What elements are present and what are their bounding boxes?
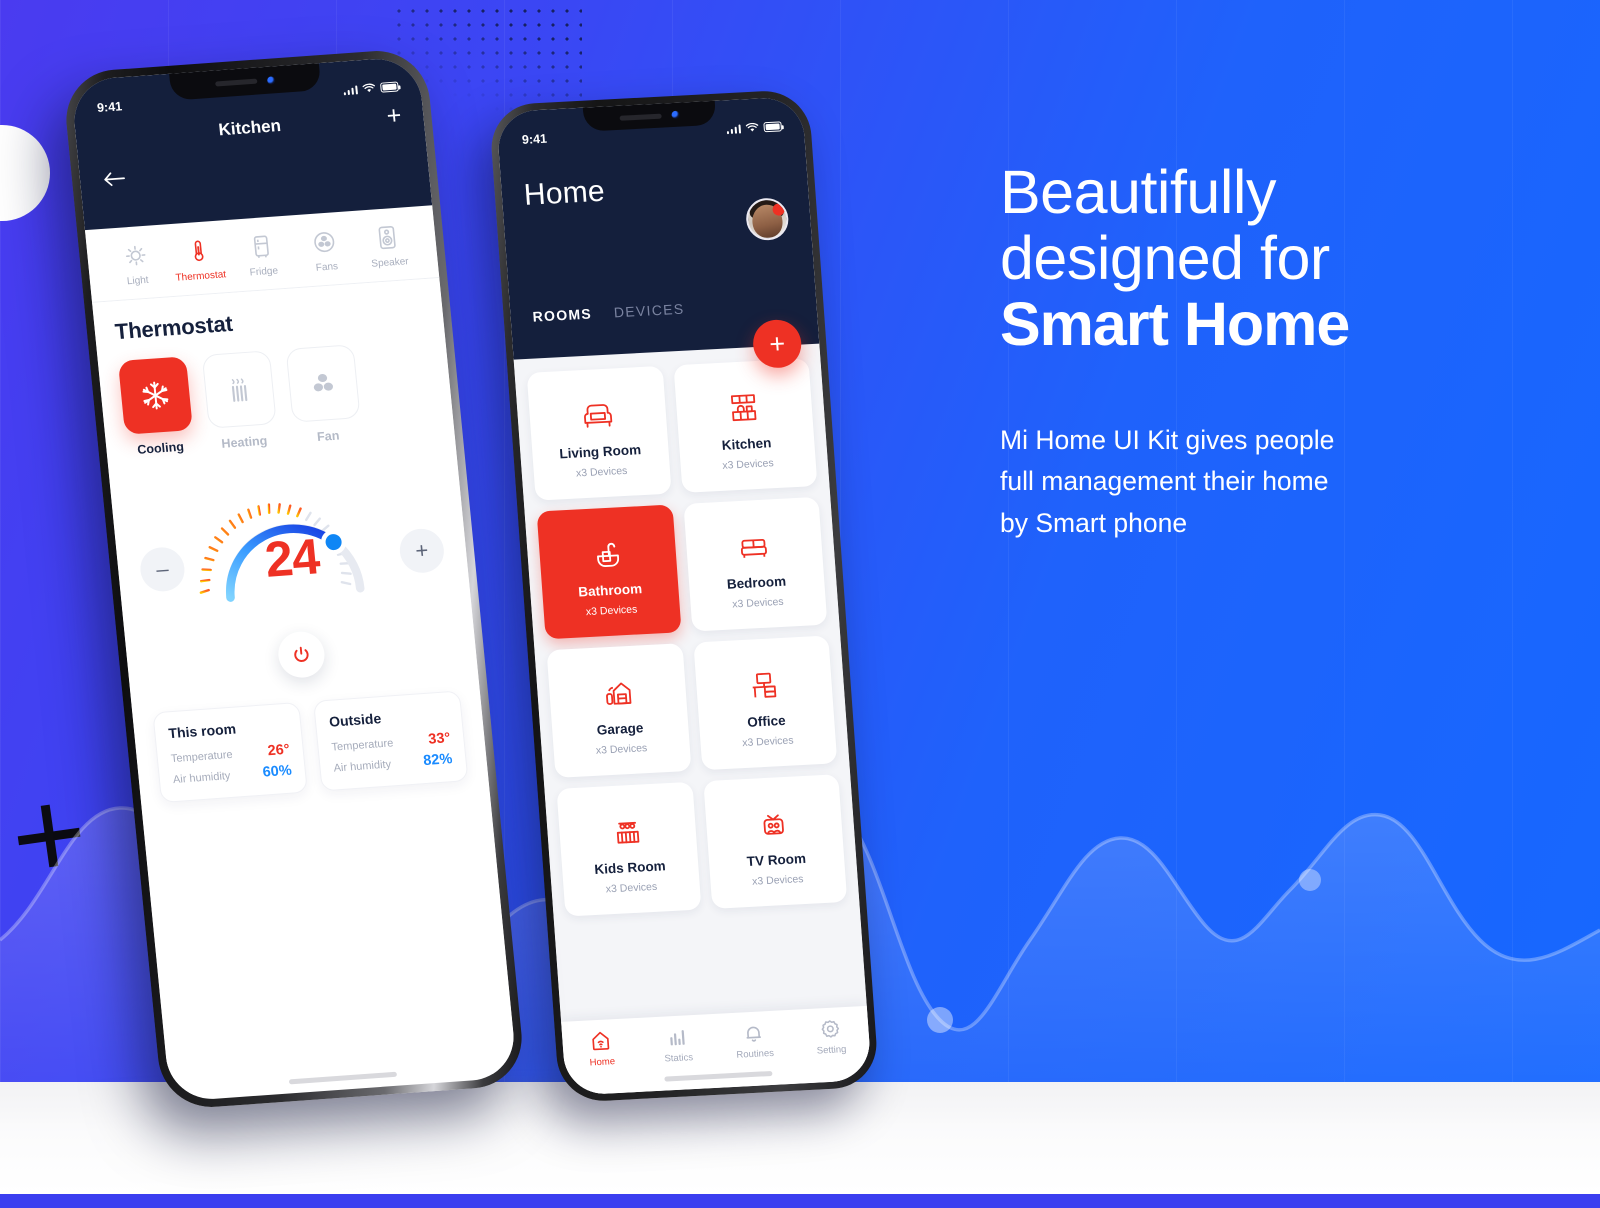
room-card-office[interactable]: Office x3 Devices (693, 635, 837, 770)
home-tabs: ROOMS DEVICES (532, 301, 685, 325)
wifi-icon (362, 83, 376, 94)
gear-icon (818, 1017, 842, 1040)
room-name: Kitchen (721, 435, 772, 453)
room-name: Kids Room (594, 858, 666, 877)
info-row-humidity: Air humidity 82% (333, 751, 453, 775)
info-key: Temperature (331, 737, 394, 753)
status-time: 9:41 (96, 99, 122, 115)
heater-icon (221, 371, 258, 407)
room-name: Bathroom (578, 581, 643, 599)
mode-icon-box (202, 350, 277, 429)
bed-icon (732, 523, 775, 569)
device-tab-label: Speaker (371, 256, 409, 270)
room-device-count: x3 Devices (742, 734, 794, 749)
info-key: Air humidity (333, 759, 392, 775)
subcopy-line-2: full management their home (1000, 461, 1520, 503)
device-tab-thermostat[interactable]: Thermostat (166, 236, 233, 284)
signal-bars-icon (726, 123, 741, 134)
increase-temperature-button[interactable]: + (398, 527, 446, 574)
rooms-scroll-area[interactable]: Living Room x3 Devices (514, 344, 872, 1096)
signal-bars-icon (343, 84, 358, 95)
headline-line-1: Beautifully (1000, 160, 1520, 226)
info-key: Air humidity (172, 770, 231, 786)
temperature-dial[interactable]: – + (129, 452, 453, 641)
thermometer-icon (184, 237, 212, 265)
fridge-icon (247, 233, 275, 261)
status-icons (726, 121, 782, 134)
device-tab-label: Fans (315, 261, 338, 274)
info-row-temperature: Temperature 33° (331, 730, 451, 754)
fan-icon (310, 228, 338, 256)
arrow-left-icon (101, 169, 127, 189)
tab-rooms[interactable]: ROOMS (532, 306, 592, 325)
room-device-count: x3 Devices (605, 880, 657, 895)
earpiece-speaker-icon (215, 79, 257, 87)
tv-icon (752, 800, 795, 846)
mode-fan[interactable]: Fan (286, 344, 363, 445)
headline: Beautifully designed for Smart Home (1000, 160, 1520, 358)
front-camera-icon (267, 76, 276, 85)
mode-icon-box (118, 356, 193, 435)
desk-icon (742, 661, 785, 707)
info-value: 82% (423, 751, 454, 769)
info-card-title: This room (168, 717, 288, 741)
info-row-humidity: Air humidity 60% (172, 763, 292, 787)
bottom-accent-bar (0, 1194, 1600, 1208)
mode-label: Fan (316, 428, 340, 444)
room-name: Living Room (559, 442, 642, 461)
home-wifi-icon (589, 1029, 613, 1052)
power-icon (290, 644, 312, 665)
page-title: Home (523, 165, 787, 213)
status-icons (343, 81, 399, 95)
room-card-tv-room[interactable]: TV Room x3 Devices (703, 774, 847, 909)
garage-house-icon (596, 669, 639, 715)
room-card-bathroom[interactable]: Bathroom x3 Devices (537, 505, 681, 640)
bell-icon (742, 1021, 766, 1044)
room-name: Office (747, 712, 786, 729)
info-value: 60% (262, 763, 293, 781)
nav-item-statics[interactable]: Statics (638, 1024, 717, 1066)
subcopy-line-3: by Smart phone (1000, 503, 1520, 545)
room-name: Bedroom (726, 573, 786, 591)
info-card-title: Outside (328, 705, 448, 729)
nav-item-routines[interactable]: Routines (715, 1020, 794, 1062)
bulb-icon (121, 242, 149, 270)
mode-heating[interactable]: Heating (202, 350, 279, 451)
device-tab-fans[interactable]: Fans (292, 227, 359, 275)
info-card-outside: Outside Temperature 33° Air humidity 82% (313, 690, 469, 791)
headline-line-2: designed for (1000, 226, 1520, 292)
room-device-count: x3 Devices (732, 595, 784, 610)
nav-label: Routines (736, 1048, 774, 1061)
room-card-garage[interactable]: Garage x3 Devices (547, 643, 691, 778)
back-button[interactable] (101, 169, 127, 194)
front-camera-icon (671, 111, 680, 119)
bathtub-icon (586, 530, 629, 576)
wifi-icon (745, 123, 759, 134)
room-device-count: x3 Devices (595, 742, 647, 757)
phone-screen-home: 9:41 Home (496, 96, 872, 1095)
info-value: 33° (428, 730, 451, 747)
device-tab-speaker[interactable]: Speaker (355, 222, 422, 270)
room-card-bedroom[interactable]: Bedroom x3 Devices (683, 497, 827, 632)
speaker-icon (373, 224, 401, 252)
marketing-copy: Beautifully designed for Smart Home Mi H… (1000, 160, 1520, 545)
nav-label: Home (589, 1056, 615, 1068)
battery-icon (380, 82, 399, 93)
earpiece-speaker-icon (619, 113, 661, 120)
thermostat-modes: Cooling Heating (118, 339, 435, 458)
room-name: Garage (596, 720, 644, 737)
kitchen-cabinet-icon (722, 384, 765, 430)
status-time: 9:41 (521, 132, 547, 147)
room-name: TV Room (746, 850, 806, 868)
snowflake-icon (137, 377, 174, 413)
room-device-count: x3 Devices (586, 603, 638, 618)
device-tab-light[interactable]: Light (102, 240, 169, 288)
nav-label: Setting (816, 1044, 846, 1057)
room-device-count: x3 Devices (722, 457, 774, 472)
crib-icon (606, 808, 649, 854)
subcopy: Mi Home UI Kit gives people full managem… (1000, 420, 1520, 546)
battery-icon (763, 122, 782, 132)
thermostat-body: Thermostat Cooling (92, 278, 517, 1097)
room-device-count: x3 Devices (576, 464, 628, 479)
device-tab-label: Thermostat (175, 269, 227, 284)
nav-item-home[interactable]: Home (562, 1028, 641, 1070)
room-card-living-room[interactable]: Living Room x3 Devices (527, 366, 671, 501)
mode-label: Heating (221, 434, 268, 451)
tab-devices[interactable]: DEVICES (613, 301, 685, 321)
subcopy-line-1: Mi Home UI Kit gives people (1000, 420, 1520, 462)
mode-label: Cooling (137, 440, 185, 457)
section-title: Thermostat (114, 297, 424, 345)
rooms-grid: Living Room x3 Devices (527, 358, 848, 916)
fan-blades-icon (304, 365, 341, 401)
bottom-navigation: Home Statics (561, 1006, 872, 1096)
room-card-kids-room[interactable]: Kids Room x3 Devices (556, 782, 700, 917)
mode-icon-box (286, 344, 361, 423)
nav-label: Statics (664, 1052, 693, 1064)
device-tab-label: Fridge (249, 265, 278, 278)
mode-cooling[interactable]: Cooling (118, 356, 195, 457)
info-card-this-room: This room Temperature 26° Air humidity 6… (152, 702, 308, 803)
add-device-button[interactable]: + (386, 103, 403, 129)
info-value: 26° (267, 742, 290, 759)
device-tab-label: Light (126, 275, 149, 287)
info-row-temperature: Temperature 26° (170, 742, 290, 766)
room-card-kitchen[interactable]: Kitchen x3 Devices (673, 358, 817, 493)
bar-chart-icon (665, 1025, 689, 1048)
nav-item-setting[interactable]: Setting (791, 1016, 870, 1058)
temperature-value: 24 (262, 527, 321, 589)
headline-bold: Smart Home (1000, 292, 1520, 358)
avatar[interactable] (745, 197, 790, 241)
room-device-count: x3 Devices (752, 873, 804, 888)
armchair-icon (576, 392, 619, 438)
info-key: Temperature (170, 749, 233, 765)
decrease-temperature-button[interactable]: – (138, 546, 186, 593)
power-button[interactable] (276, 630, 326, 679)
device-tab-fridge[interactable]: Fridge (229, 231, 296, 279)
info-cards: This room Temperature 26° Air humidity 6… (152, 690, 468, 803)
